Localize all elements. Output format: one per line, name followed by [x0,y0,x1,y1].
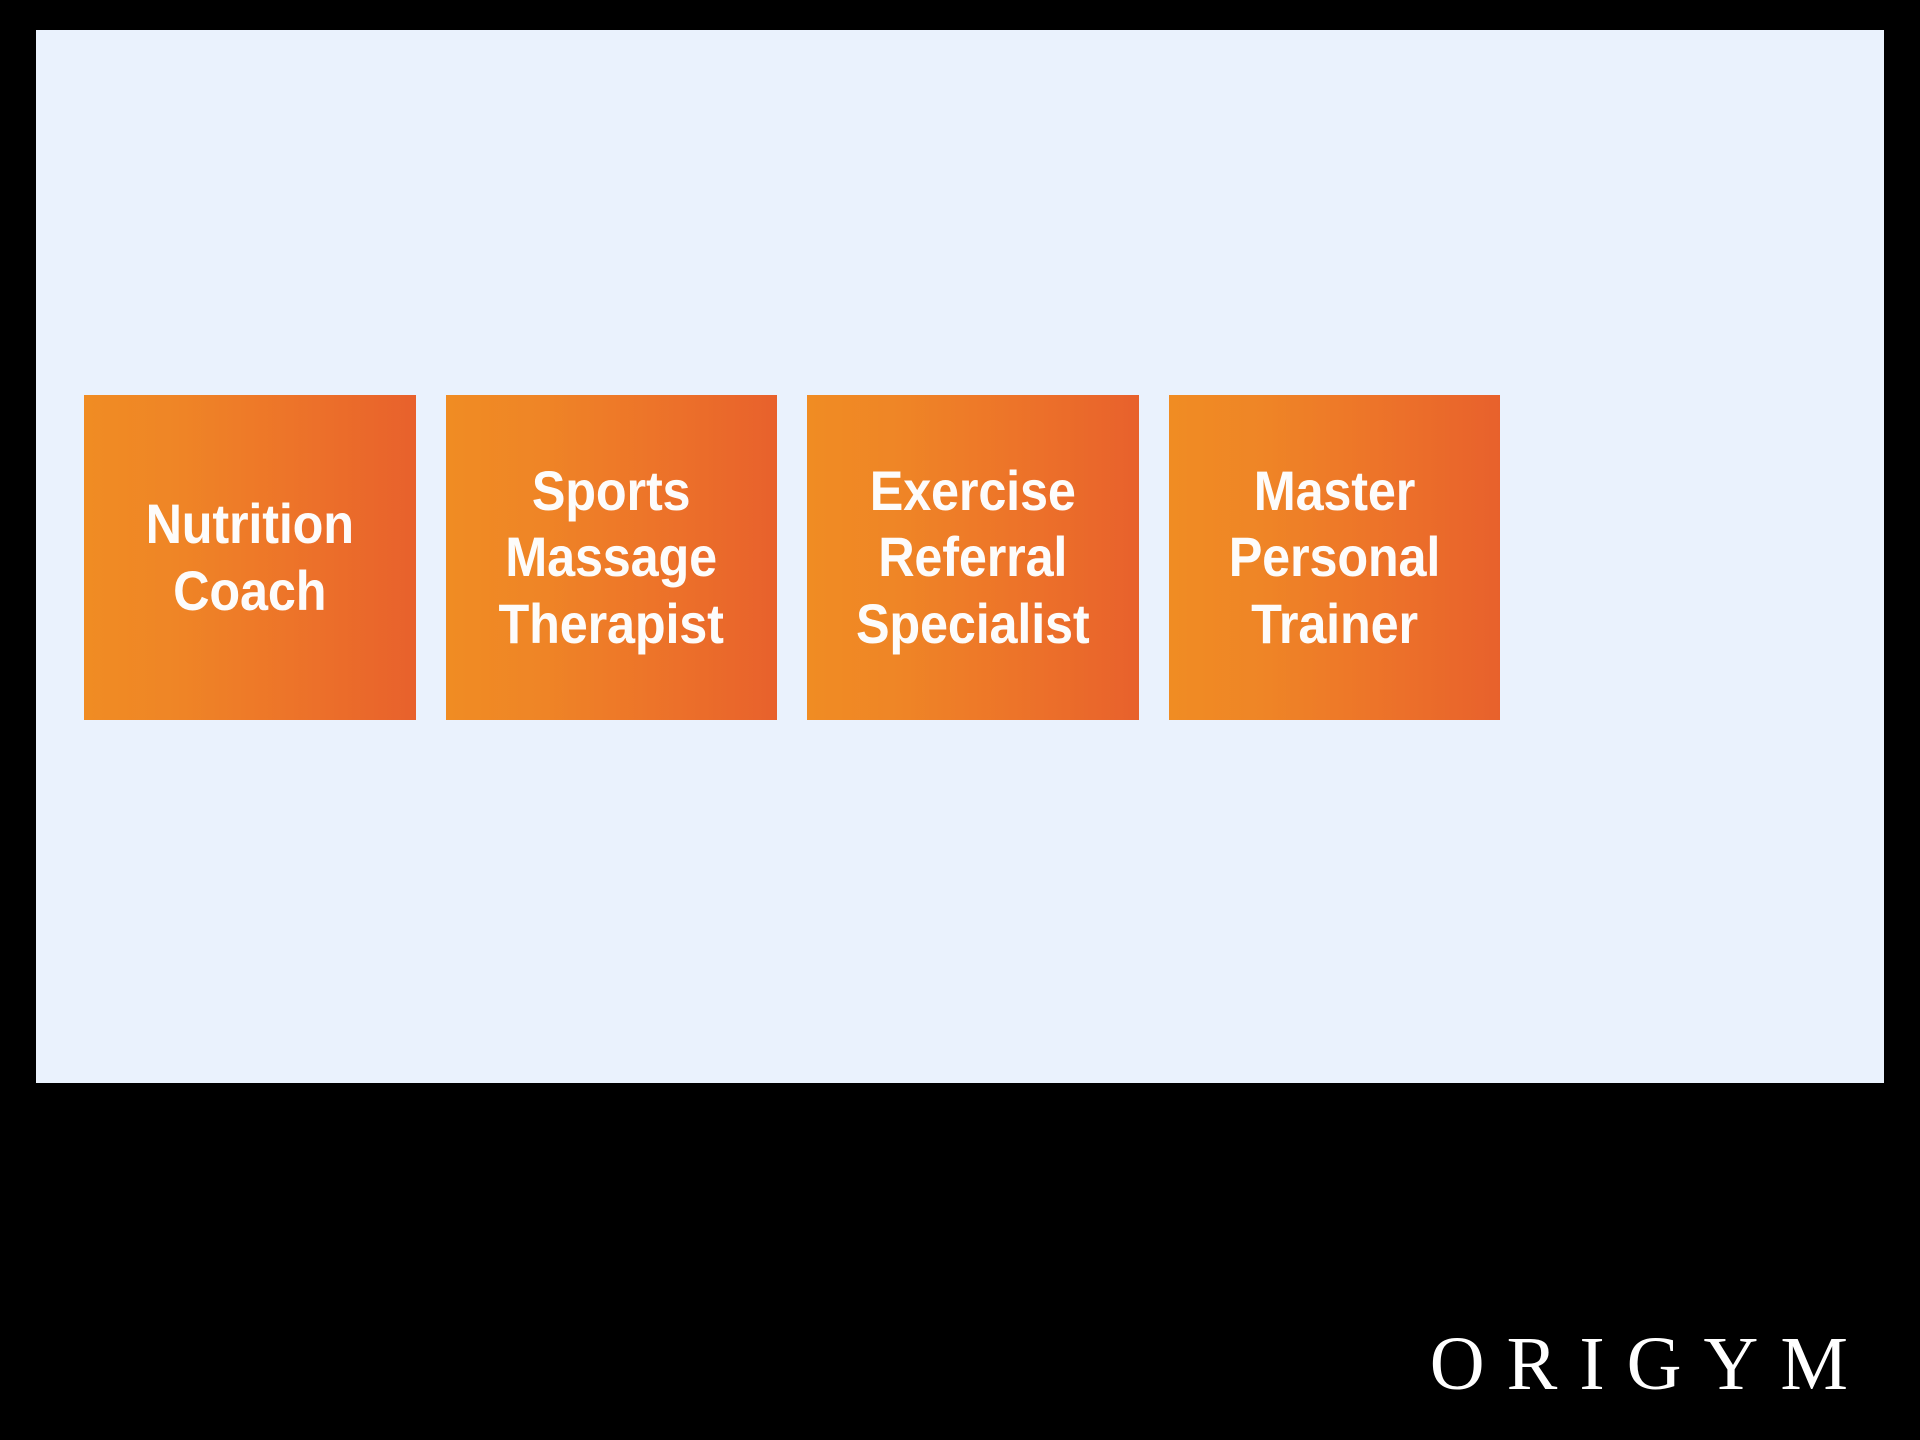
qualification-card-master-personal-trainer[interactable]: Master Personal Trainer [1169,395,1501,720]
qualification-card-row: Nutrition Coach Sports Massage Therapist… [84,395,1500,720]
card-label: Exercise Referral Specialist [856,458,1090,656]
footer-bar: ORIGYM [0,1083,1920,1440]
qualification-card-sports-massage-therapist[interactable]: Sports Massage Therapist [446,395,778,720]
content-panel: Nutrition Coach Sports Massage Therapist… [36,30,1884,1083]
card-label: Nutrition Coach [146,491,354,623]
slide-frame: Nutrition Coach Sports Massage Therapist… [0,0,1920,1440]
origym-brand-wordmark: ORIGYM [1430,1326,1892,1402]
card-label: Sports Massage Therapist [499,458,724,656]
qualification-card-nutrition-coach[interactable]: Nutrition Coach [84,395,416,720]
qualification-card-exercise-referral-specialist[interactable]: Exercise Referral Specialist [807,395,1139,720]
card-label: Master Personal Trainer [1229,458,1440,656]
